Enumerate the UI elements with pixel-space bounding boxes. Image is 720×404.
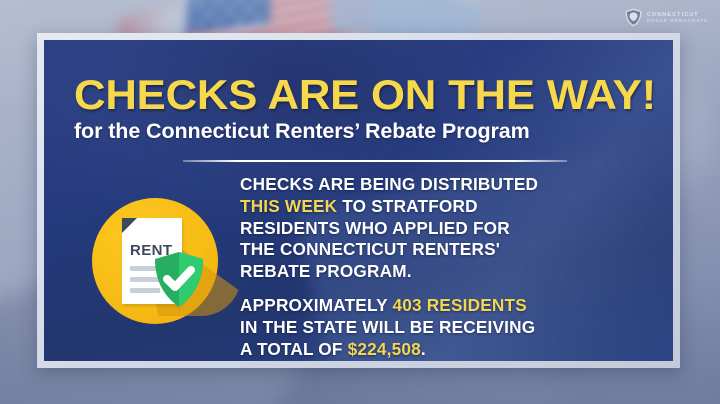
body-line: A TOTAL OF $224,508.: [240, 339, 636, 361]
connecticut-house-democrats-logo: CONNECTICUT HOUSE DEMOCRATS: [625, 8, 708, 27]
rent-document-shield-icon: RENT: [92, 198, 218, 324]
body-line: CHECKS ARE BEING DISTRIBUTED: [240, 174, 636, 196]
highlight-timing: THIS WEEK: [240, 196, 337, 216]
body-line: REBATE PROGRAM.: [240, 261, 636, 283]
body-text: IN THE STATE WILL BE RECEIVING: [240, 317, 535, 337]
shield-icon: [625, 8, 642, 27]
highlight-resident-count: 403 RESIDENTS: [392, 295, 526, 315]
body-line: APPROXIMATELY 403 RESIDENTS: [240, 295, 636, 317]
announcement-card: CHECKS ARE ON THE WAY! for the Connectic…: [44, 40, 673, 361]
body-line: THE CONNECTICUT RENTERS': [240, 239, 636, 261]
body-line: IN THE STATE WILL BE RECEIVING: [240, 317, 636, 339]
body-text: .: [421, 339, 426, 359]
divider: [183, 160, 567, 162]
document-fold-corner: [122, 218, 137, 233]
paragraph-gap: [240, 283, 636, 295]
body-text: TO STRATFORD: [337, 196, 477, 216]
body-text: CHECKS ARE BEING DISTRIBUTED: [240, 174, 538, 194]
body-text: THE CONNECTICUT RENTERS': [240, 239, 500, 259]
body-text: A TOTAL OF: [240, 339, 348, 359]
highlight-total-amount: $224,508: [348, 339, 421, 359]
page-subtitle: for the Connecticut Renters’ Rebate Prog…: [74, 119, 530, 144]
body-text: REBATE PROGRAM.: [240, 261, 412, 281]
body-line: RESIDENTS WHO APPLIED FOR: [240, 218, 636, 240]
announcement-graphic: CONNECTICUT HOUSE DEMOCRATS CHECKS ARE O…: [0, 0, 720, 404]
body-text: APPROXIMATELY: [240, 295, 392, 315]
page-title: CHECKS ARE ON THE WAY!: [74, 74, 656, 116]
body-text: RESIDENTS WHO APPLIED FOR: [240, 218, 510, 238]
shield-check-icon: [154, 252, 204, 308]
logo-line-2: HOUSE DEMOCRATS: [647, 18, 708, 23]
announcement-body: CHECKS ARE BEING DISTRIBUTED THIS WEEK T…: [240, 174, 636, 360]
body-line: THIS WEEK TO STRATFORD: [240, 196, 636, 218]
logo-text: CONNECTICUT HOUSE DEMOCRATS: [647, 12, 708, 24]
announcement-card-frame: CHECKS ARE ON THE WAY! for the Connectic…: [37, 33, 680, 368]
